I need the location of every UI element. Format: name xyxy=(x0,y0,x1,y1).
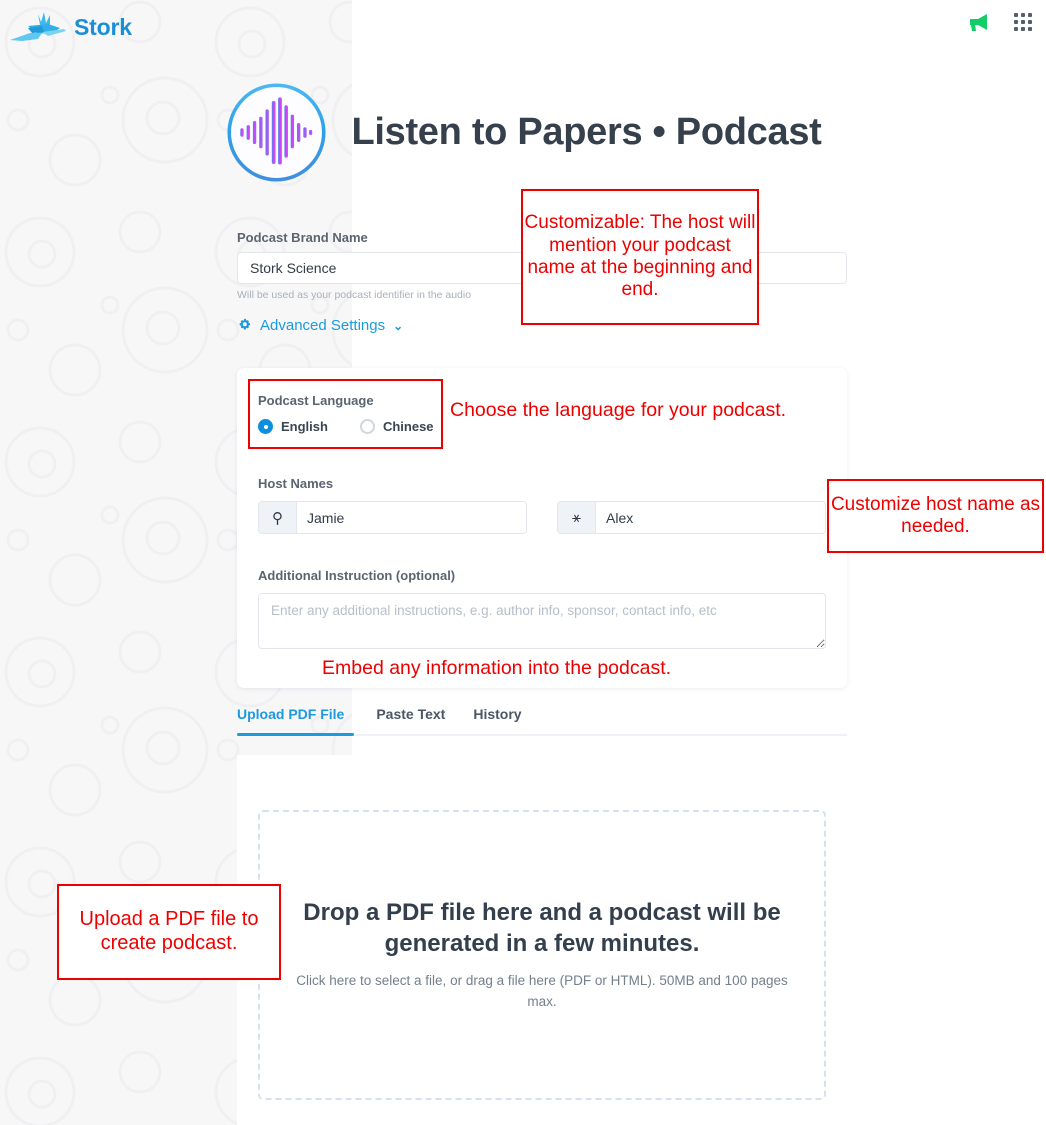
brand-name: Stork xyxy=(74,14,132,41)
host-names-group: Host Names ⚲ ⚹ xyxy=(258,476,826,534)
additional-instruction-label: Additional Instruction (optional) xyxy=(258,568,826,583)
hero-header: Listen to Papers • Podcast xyxy=(0,80,1046,185)
host-names-row: ⚲ ⚹ xyxy=(258,501,826,534)
top-bar: Stork xyxy=(0,0,1046,55)
tab-paste-text[interactable]: Paste Text xyxy=(362,706,459,734)
stork-bird-logo-icon xyxy=(8,8,70,48)
host-name-input-2[interactable] xyxy=(596,502,825,533)
pdf-dropzone[interactable]: Drop a PDF file here and a podcast will … xyxy=(258,810,826,1100)
megaphone-icon[interactable] xyxy=(970,12,992,32)
source-tabs: Upload PDF File Paste Text History xyxy=(237,706,847,736)
brand-logo[interactable]: Stork xyxy=(8,8,132,48)
dropzone-subtitle: Click here to select a file, or drag a f… xyxy=(292,971,792,1013)
gear-icon xyxy=(237,318,252,333)
advanced-settings-label: Advanced Settings xyxy=(260,317,385,334)
annotation-upload-note: Upload a PDF file to create podcast. xyxy=(57,884,281,980)
host-field-1: ⚲ xyxy=(258,501,527,534)
annotation-embed-note: Embed any information into the podcast. xyxy=(322,657,671,680)
annotation-language-highlight xyxy=(248,379,443,449)
annotation-language-note: Choose the language for your podcast. xyxy=(450,399,786,422)
female-person-icon: ⚲ xyxy=(259,502,297,533)
annotation-host-name: Customize host name as needed. xyxy=(827,479,1044,553)
additional-instruction-group: Additional Instruction (optional) xyxy=(258,568,826,654)
additional-instruction-textarea[interactable] xyxy=(258,593,826,649)
tab-history[interactable]: History xyxy=(459,706,535,734)
host-names-label: Host Names xyxy=(258,476,826,491)
male-person-icon: ⚹ xyxy=(558,502,596,533)
host-name-input-1[interactable] xyxy=(297,502,526,533)
apps-grid-icon[interactable] xyxy=(1014,13,1032,31)
chevron-down-icon: ⌄ xyxy=(393,319,403,333)
podcast-waveform-circle-icon xyxy=(224,80,329,185)
host-field-2: ⚹ xyxy=(557,501,826,534)
annotation-brand-name: Customizable: The host will mention your… xyxy=(521,189,759,325)
dropzone-title: Drop a PDF file here and a podcast will … xyxy=(297,897,787,959)
advanced-settings-toggle[interactable]: Advanced Settings ⌄ xyxy=(237,317,403,334)
upload-panel: Drop a PDF file here and a podcast will … xyxy=(237,755,847,1125)
tab-upload-pdf-file[interactable]: Upload PDF File xyxy=(237,706,362,734)
page-title: Listen to Papers • Podcast xyxy=(351,111,821,154)
top-bar-actions xyxy=(970,12,1032,32)
